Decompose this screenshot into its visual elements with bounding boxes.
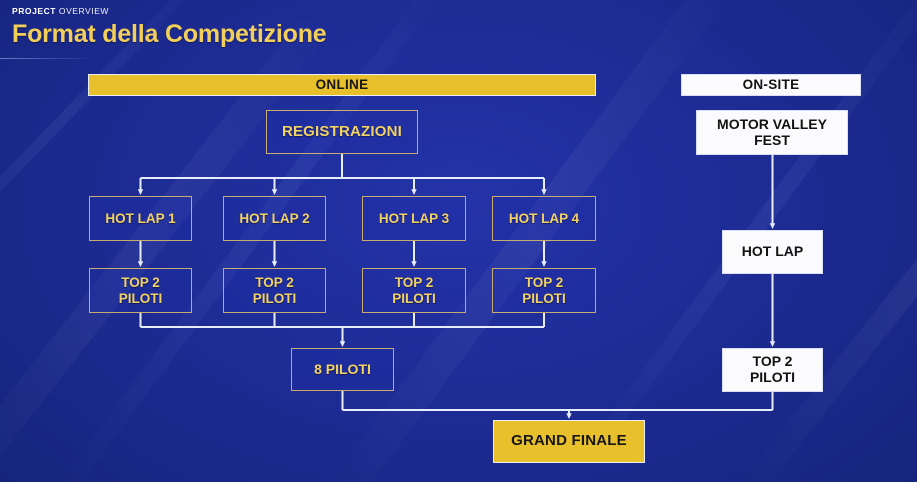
node-hot-lap-4: HOT LAP 4 <box>492 196 596 241</box>
node-top-2-piloti-3: TOP 2 PILOTI <box>362 268 466 313</box>
node-registrazioni: REGISTRAZIONI <box>266 110 418 154</box>
eyebrow-light-text: OVERVIEW <box>59 6 109 16</box>
node-8-piloti: 8 PILOTI <box>291 348 394 391</box>
node-top-2-piloti-4: TOP 2 PILOTI <box>492 268 596 313</box>
slide-canvas: PROJECT OVERVIEW Format della Competizio… <box>0 0 917 482</box>
node-onsite-top-2-piloti: TOP 2 PILOTI <box>722 348 823 392</box>
page-title: Format della Competizione <box>12 19 326 49</box>
node-motor-valley-fest: MOTOR VALLEY FEST <box>696 110 848 155</box>
node-hot-lap-1: HOT LAP 1 <box>89 196 192 241</box>
node-top-2-piloti-2: TOP 2 PILOTI <box>223 268 326 313</box>
node-top-2-piloti-1: TOP 2 PILOTI <box>89 268 192 313</box>
node-hot-lap-2: HOT LAP 2 <box>223 196 326 241</box>
header-block: PROJECT OVERVIEW Format della Competizio… <box>12 6 326 49</box>
eyebrow-label: PROJECT OVERVIEW <box>12 6 326 17</box>
banner-onsite: ON-SITE <box>681 74 861 96</box>
node-hot-lap-3: HOT LAP 3 <box>362 196 466 241</box>
eyebrow-bold-text: PROJECT <box>12 6 56 16</box>
node-grand-finale: GRAND FINALE <box>493 420 645 463</box>
title-underline-rule <box>0 58 86 59</box>
node-onsite-hot-lap: HOT LAP <box>722 230 823 274</box>
banner-online: ONLINE <box>88 74 596 96</box>
